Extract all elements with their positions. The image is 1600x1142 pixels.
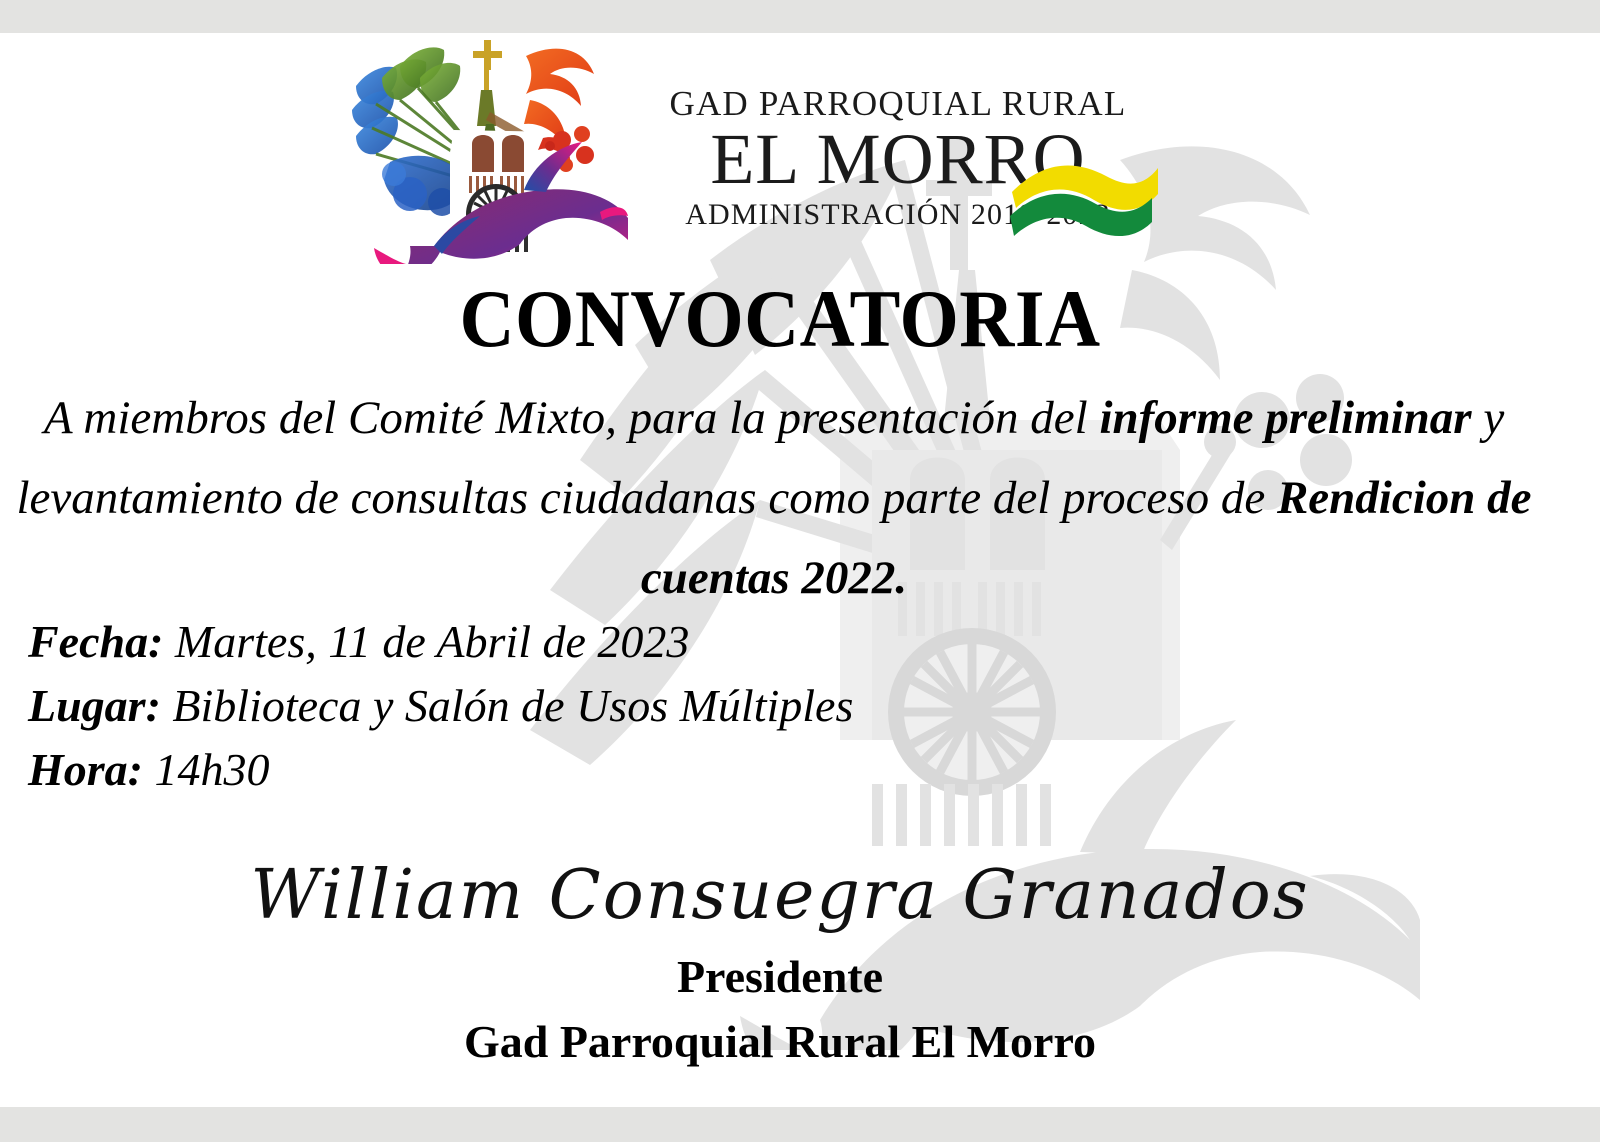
detail-label-lugar: Lugar: <box>28 680 161 731</box>
yellow-green-ribbon-icon <box>1010 146 1160 246</box>
detail-label-hora: Hora: <box>28 744 143 795</box>
detail-label-fecha: Fecha: <box>28 616 163 667</box>
signature-name: William Consuegra Granados <box>0 862 1560 930</box>
detail-row-hora: Hora: 14h30 <box>28 738 853 802</box>
top-border-band <box>0 0 1600 33</box>
detail-row-lugar: Lugar: Biblioteca y Salón de Usos Múltip… <box>28 674 853 738</box>
org-line-1: GAD PARROQUIAL RURAL <box>628 86 1168 121</box>
signature-role: Presidente <box>0 950 1560 1003</box>
detail-value-fecha: Martes, 11 de Abril de 2023 <box>175 616 689 667</box>
page-title: CONVOCATORIA <box>55 272 1506 366</box>
signature-organization: Gad Parroquial Rural El Morro <box>0 1015 1560 1068</box>
para-seg-1: A miembros del Comité Mixto, para la pre… <box>44 392 1100 444</box>
para-seg-2-bold: informe preliminar <box>1099 392 1471 444</box>
convocatoria-poster: GAD PARROQUIAL RURAL EL MORRO ADMINISTRA… <box>0 0 1600 1142</box>
detail-value-hora: 14h30 <box>155 744 270 795</box>
event-details: Fecha: Martes, 11 de Abril de 2023 Lugar… <box>28 610 853 802</box>
letterhead: GAD PARROQUIAL RURAL EL MORRO ADMINISTRA… <box>338 34 1168 264</box>
body-paragraph: A miembros del Comité Mixto, para la pre… <box>14 378 1534 618</box>
detail-value-lugar: Biblioteca y Salón de Usos Múltiples <box>172 680 853 731</box>
el-morro-emblem-icon <box>338 34 628 264</box>
detail-row-fecha: Fecha: Martes, 11 de Abril de 2023 <box>28 610 853 674</box>
bottom-border-band <box>0 1107 1600 1142</box>
